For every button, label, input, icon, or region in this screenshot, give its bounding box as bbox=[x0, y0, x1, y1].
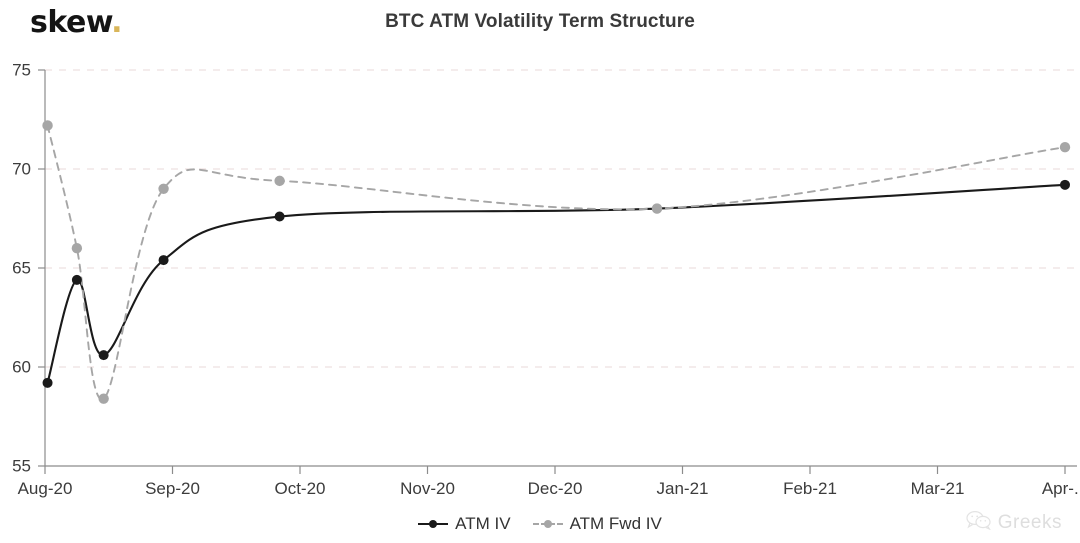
gridlines bbox=[45, 70, 1077, 466]
series-line-atm-iv bbox=[48, 185, 1065, 383]
series-points bbox=[42, 120, 1070, 404]
y-tick-label: 70 bbox=[12, 159, 31, 178]
legend-label-atm-iv: ATM IV bbox=[455, 514, 510, 534]
x-tick-label: Oct-20 bbox=[274, 479, 325, 498]
watermark: Greeks bbox=[966, 510, 1062, 535]
y-tick-label: 65 bbox=[12, 258, 31, 277]
x-tick-label: Mar-21 bbox=[911, 479, 965, 498]
y-tick-label: 60 bbox=[12, 357, 31, 376]
legend-item-atm-iv[interactable]: ATM IV bbox=[418, 514, 510, 534]
legend-item-atm-fwd-iv[interactable]: ATM Fwd IV bbox=[533, 514, 662, 534]
legend-label-atm-fwd-iv: ATM Fwd IV bbox=[570, 514, 662, 534]
series-lines bbox=[48, 125, 1065, 399]
x-axis-ticks: Aug-20Sep-20Oct-20Nov-20Dec-20Jan-21Feb-… bbox=[18, 466, 1080, 498]
line-chart-svg: 7570656055 Aug-20Sep-20Oct-20Nov-20Dec-2… bbox=[0, 0, 1080, 543]
x-tick-label: Sep-20 bbox=[145, 479, 200, 498]
series-line-atm-fwd-iv bbox=[48, 125, 1065, 399]
x-tick-label: Dec-20 bbox=[528, 479, 583, 498]
data-point-atm-iv[interactable] bbox=[275, 212, 285, 222]
data-point-atm-iv[interactable] bbox=[99, 350, 109, 360]
chart-page: skew. BTC ATM Volatility Term Structure … bbox=[0, 0, 1080, 543]
data-point-atm-fwd-iv[interactable] bbox=[42, 120, 52, 130]
data-point-atm-fwd-iv[interactable] bbox=[98, 393, 108, 403]
data-point-atm-iv[interactable] bbox=[1060, 180, 1070, 190]
y-tick-label: 55 bbox=[12, 456, 31, 475]
x-tick-label: Nov-20 bbox=[400, 479, 455, 498]
legend-swatch-atm-iv bbox=[418, 518, 448, 530]
data-point-atm-iv[interactable] bbox=[72, 275, 82, 285]
chart-plot-area: 7570656055 Aug-20Sep-20Oct-20Nov-20Dec-2… bbox=[0, 0, 1080, 543]
x-tick-label: Jan-21 bbox=[657, 479, 709, 498]
data-point-atm-fwd-iv[interactable] bbox=[1060, 142, 1070, 152]
x-tick-label: Aug-20 bbox=[18, 479, 73, 498]
data-point-atm-iv[interactable] bbox=[43, 378, 53, 388]
data-point-atm-fwd-iv[interactable] bbox=[652, 203, 662, 213]
data-point-atm-fwd-iv[interactable] bbox=[72, 243, 82, 253]
y-axis-ticks: 7570656055 bbox=[12, 60, 45, 475]
chart-legend: ATM IV ATM Fwd IV bbox=[0, 514, 1080, 534]
data-point-atm-fwd-iv[interactable] bbox=[274, 176, 284, 186]
wechat-icon bbox=[966, 510, 992, 535]
legend-swatch-atm-fwd-iv bbox=[533, 518, 563, 530]
data-point-atm-fwd-iv[interactable] bbox=[158, 184, 168, 194]
x-tick-label: Feb-21 bbox=[783, 479, 837, 498]
x-tick-label: Apr-... bbox=[1042, 479, 1080, 498]
watermark-text: Greeks bbox=[998, 512, 1062, 534]
y-tick-label: 75 bbox=[12, 60, 31, 79]
data-point-atm-iv[interactable] bbox=[159, 255, 169, 265]
